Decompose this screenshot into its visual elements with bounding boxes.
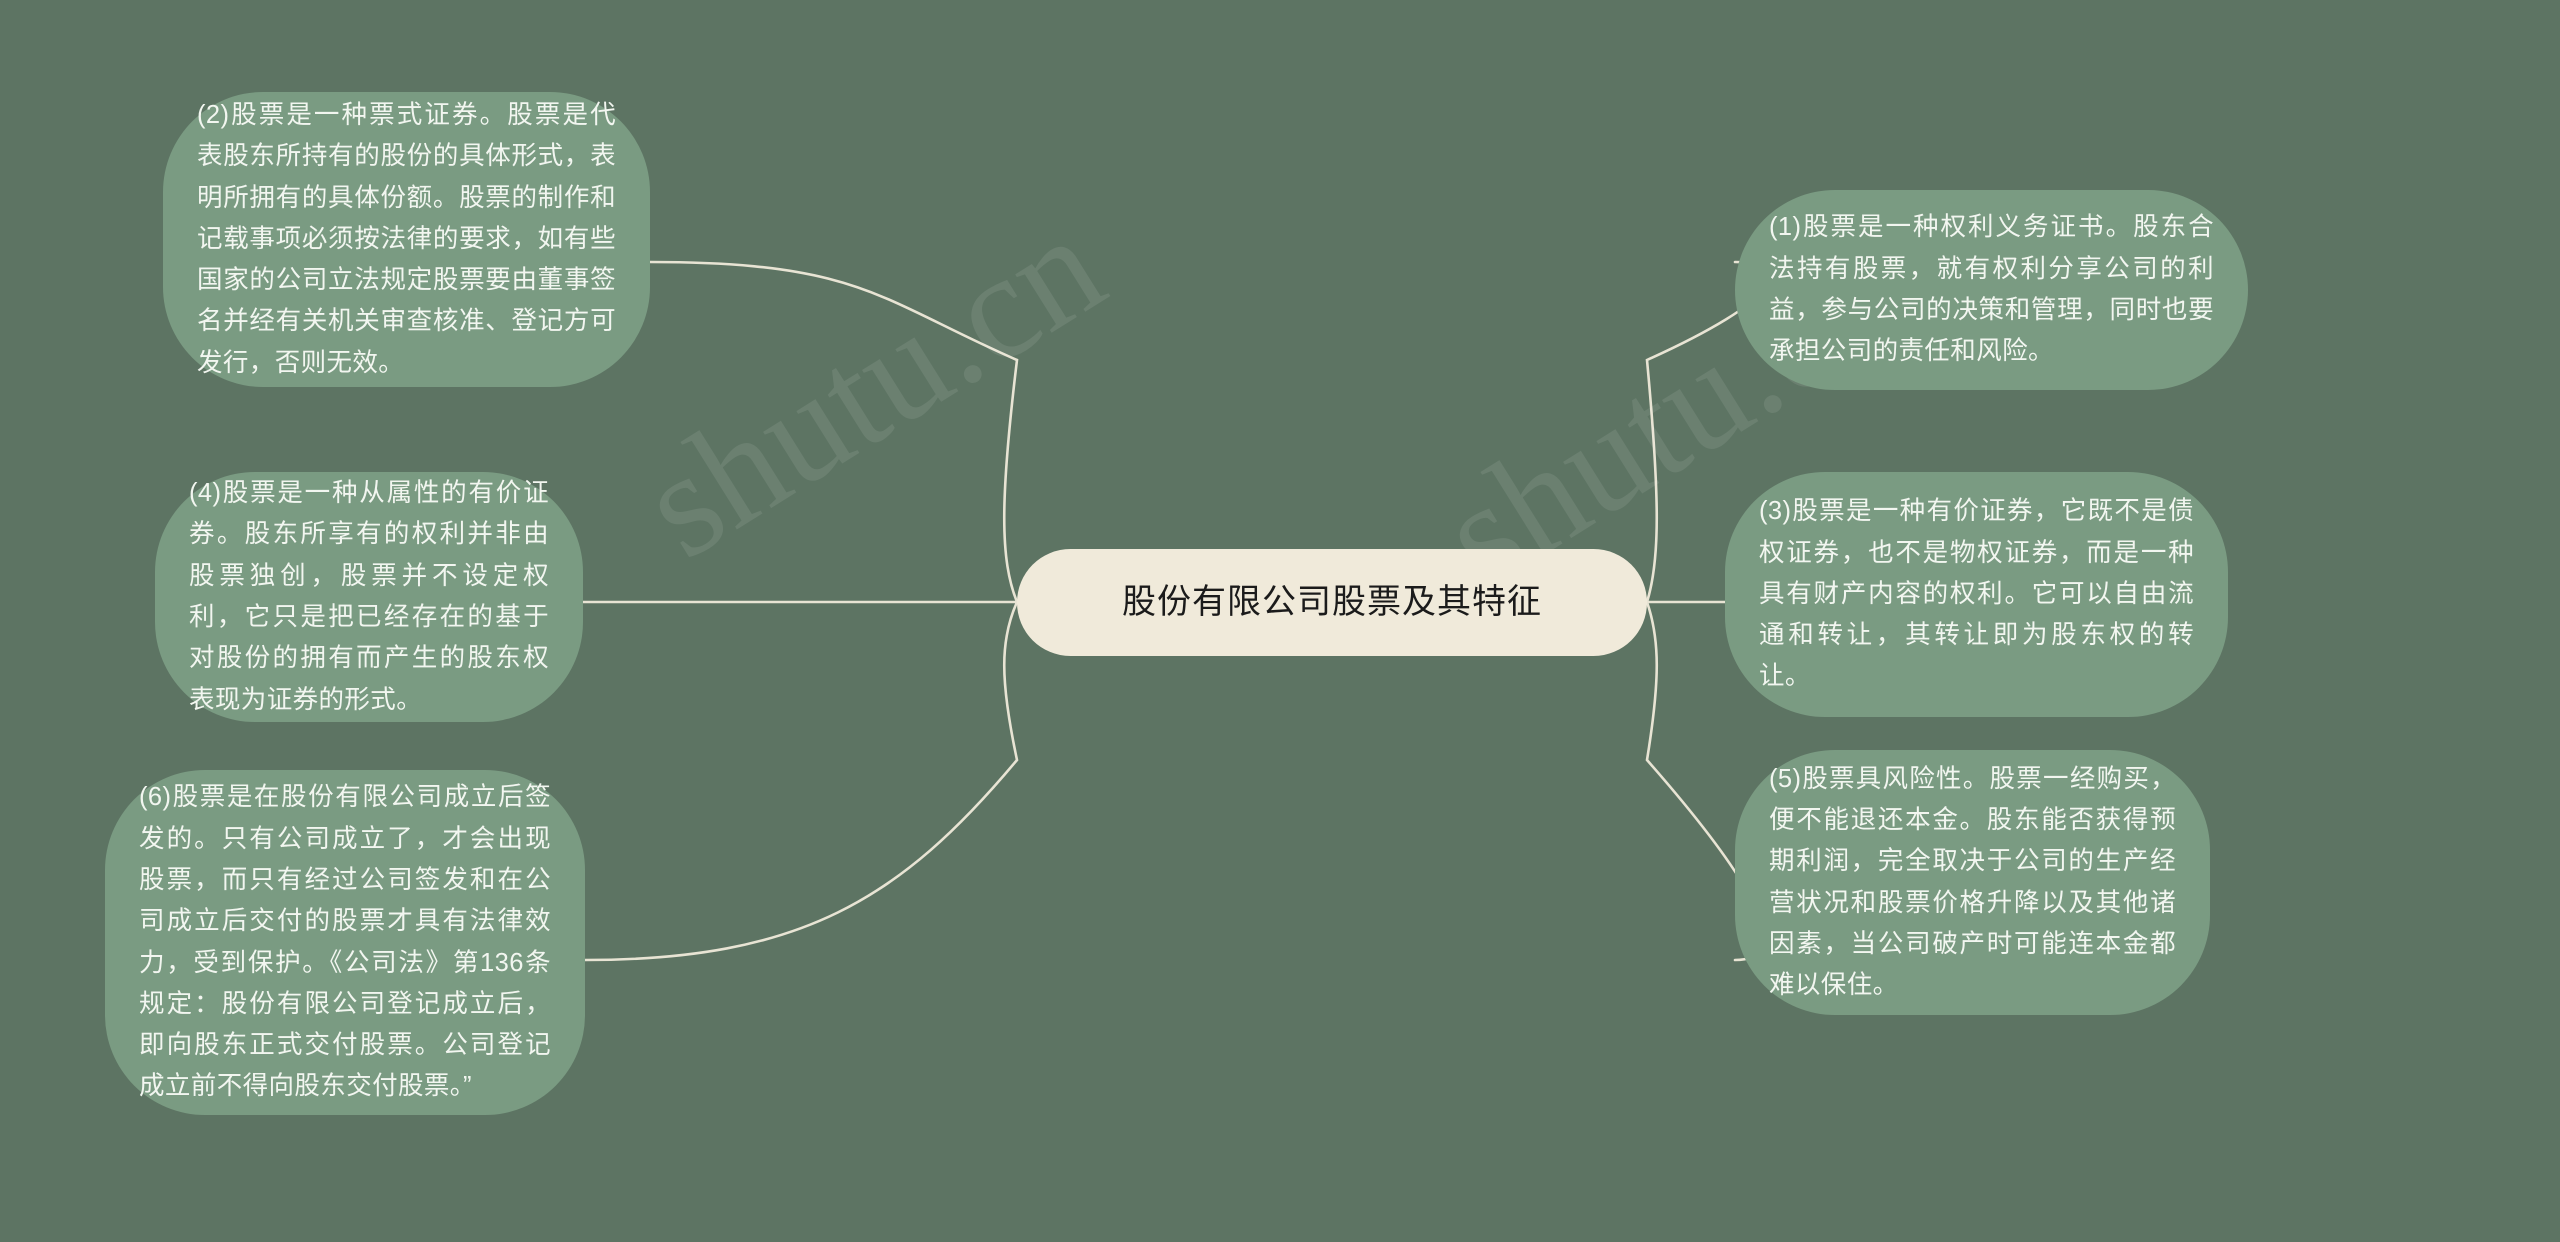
mindmap-branch-node-2[interactable]: (2)股票是一种票式证券。股票是代表股东所持有的股份的具体形式，表明所拥有的具体… [163,92,650,387]
mindmap-canvas: shutu.cn shutu.cn 树图 (2)股票是一种票式证券。股票是代表股… [0,0,2560,1242]
branch-label: (6)股票是在股份有限公司成立后签发的。只有公司成立了，才会出现股票，而只有经过… [139,777,551,1107]
branch-label: (5)股票具风险性。股票一经购买，便不能退还本金。股东能否获得预期利润，完全取决… [1769,759,2176,1007]
connector-node-2 [650,262,1017,602]
watermark: shutu.cn [613,179,1132,592]
mindmap-branch-node-6[interactable]: (6)股票是在股份有限公司成立后签发的。只有公司成立了，才会出现股票，而只有经过… [105,770,585,1115]
root-label: 股份有限公司股票及其特征 [1017,578,1647,626]
branch-label: (2)股票是一种票式证券。股票是代表股东所持有的股份的具体形式，表明所拥有的具体… [197,95,616,384]
branch-label: (4)股票是一种从属性的有价证券。股东所享有的权利并非由股票独创，股票并不设定权… [189,473,549,721]
mindmap-branch-node-1[interactable]: (1)股票是一种权利义务证书。股东合法持有股票，就有权利分享公司的利益，参与公司… [1735,190,2248,390]
branch-label: (1)股票是一种权利义务证书。股东合法持有股票，就有权利分享公司的利益，参与公司… [1769,207,2214,372]
mindmap-branch-node-4[interactable]: (4)股票是一种从属性的有价证券。股东所享有的权利并非由股票独创，股票并不设定权… [155,472,583,722]
mindmap-root-node[interactable]: 股份有限公司股票及其特征 [1017,549,1647,656]
mindmap-branch-node-5[interactable]: (5)股票具风险性。股票一经购买，便不能退还本金。股东能否获得预期利润，完全取决… [1735,750,2210,1015]
connector-node-6 [585,602,1017,960]
branch-label: (3)股票是一种有价证券，它既不是债权证券，也不是物权证券，而是一种具有财产内容… [1759,491,2194,697]
mindmap-branch-node-3[interactable]: (3)股票是一种有价证券，它既不是债权证券，也不是物权证券，而是一种具有财产内容… [1725,472,2228,717]
